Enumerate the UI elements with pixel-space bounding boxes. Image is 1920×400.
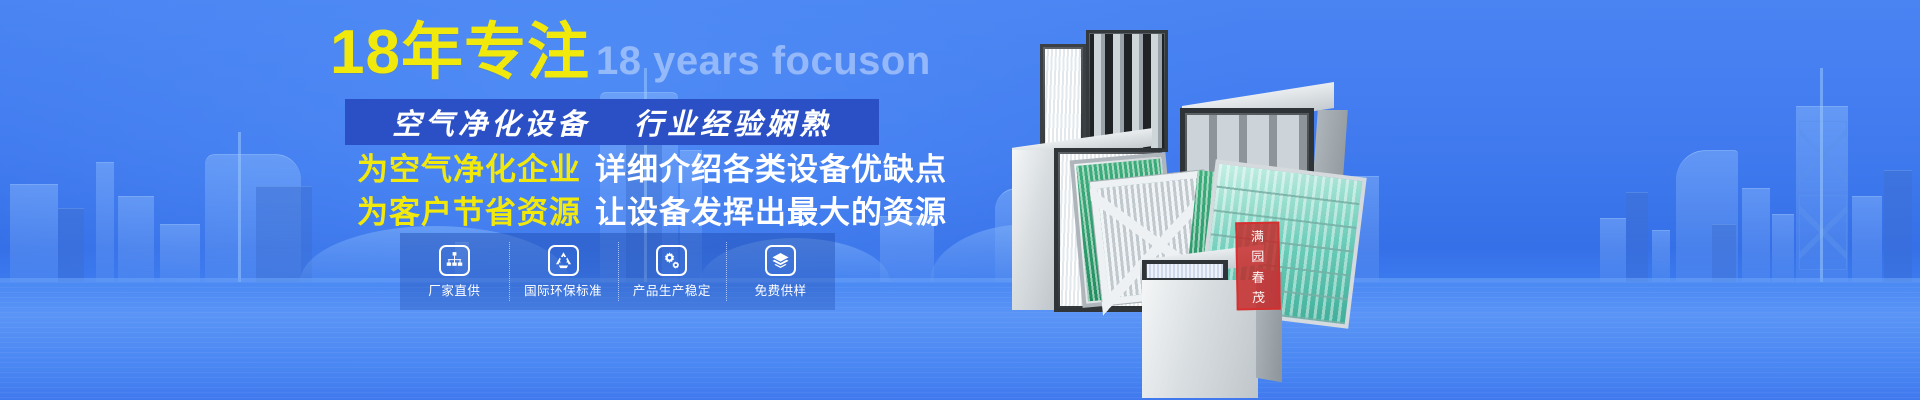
seal-char: 茂 [1252,287,1265,306]
org-chart-icon [439,245,470,276]
feature-label: 免费供样 [755,280,807,299]
tagline-row-1: 为空气净化企业详细介绍各类设备优缺点 [357,154,947,185]
tagline-1-body: 详细介绍各类设备优缺点 [595,152,947,187]
product-box-filter-left [1012,150,1056,310]
feature-item-free-sample[interactable]: 免费供样 [726,233,835,310]
headline: 18年专注 18 years focuson [330,22,931,84]
slogan-right: 行业经验娴熟 [634,101,832,143]
tagline-2-body: 让设备发挥出最大的资源 [595,195,947,230]
promo-banner: 18年专注 18 years focuson 空气净化设备 行业经验娴熟 为空气… [0,0,1920,400]
recycle-icon [548,245,579,276]
feature-item-eco-standard[interactable]: 国际环保标准 [509,233,618,310]
layers-diamond-icon [765,245,796,276]
headline-english: 18 years focuson [596,41,931,84]
tagline-2-highlight: 为客户节省资源 [357,195,581,230]
tagline-1-highlight: 为空气净化企业 [357,152,581,187]
tagline-row-2: 为客户节省资源让设备发挥出最大的资源 [357,197,947,228]
feature-label: 国际环保标准 [524,280,602,299]
feature-item-factory-direct[interactable]: 厂家直供 [400,233,509,310]
front-box-media [1147,264,1223,278]
headline-chinese: 18年专注 [330,22,590,84]
seal-char: 满 [1251,225,1264,244]
slogan-left: 空气净化设备 [392,101,590,143]
product-seal-watermark: 满 园 春 茂 [1235,222,1281,311]
seal-char: 园 [1251,246,1264,265]
seal-char: 春 [1251,267,1264,286]
feature-strip: 厂家直供 国际环保标准 产品生产稳定 免费供样 [400,233,835,310]
gears-icon [656,245,687,276]
slogan-band: 空气净化设备 行业经验娴熟 [345,99,879,145]
product-images: 满 园 春 茂 [1000,8,1400,400]
feature-label: 产品生产稳定 [633,280,711,299]
city-skyline-background [0,140,1920,400]
feature-label: 厂家直供 [428,280,480,299]
feature-item-stable-production[interactable]: 产品生产稳定 [618,233,727,310]
